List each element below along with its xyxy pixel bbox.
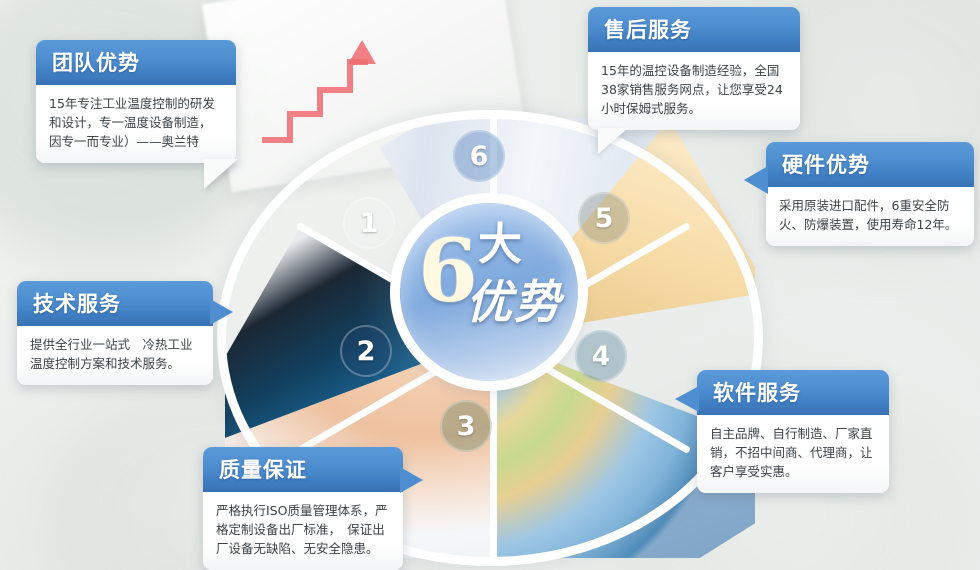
callout-after-sales[interactable]: 售后服务 15年的温控设备制造经验，全国38家销售服务网点，让您享受24小时保姆… [588,7,800,130]
callout-software-body: 自主品牌、自行制造、厂家直销，不招中间商、代理商，让客户享受实惠。 [697,415,889,493]
callout-technical-service[interactable]: 技术服务 提供全行业一站式 冷热工业温度控制方案和技术服务。 [17,281,213,385]
callout-software-title: 软件服务 [697,370,889,415]
callout-hardware-title: 硬件优势 [766,142,974,187]
badge-5[interactable]: 5 [578,192,630,244]
callout-team-advantage[interactable]: 团队优势 15年专注工业温度控制的研发和设计，专一温度设备制造，因专一而专业）—… [36,40,236,163]
callout-hardware-body: 采用原装进口配件，6重安全防火、防爆装置，使用寿命12年。 [766,187,974,246]
badge-3[interactable]: 3 [440,400,492,452]
callout-tail [210,299,233,325]
center-hub: 6 大 优势 [400,203,578,381]
badge-6[interactable]: 6 [453,130,505,182]
callout-quality-assurance[interactable]: 质量保证 严格执行ISO质量管理体系，严格定制设备出厂标准， 保证出厂设备无缺陷… [203,447,403,570]
callout-hardware-advantage[interactable]: 硬件优势 采用原装进口配件，6重安全防火、防爆装置，使用寿命12年。 [766,142,974,246]
callout-team-title: 团队优势 [36,40,236,85]
callout-team-body: 15年专注工业温度控制的研发和设计，专一温度设备制造，因专一而专业）——奥兰特 [36,85,236,163]
callout-tech-title: 技术服务 [17,281,213,326]
hub-word: 优势 [466,277,562,327]
badge-2[interactable]: 2 [340,325,392,377]
callout-tail [204,159,238,189]
callout-quality-body: 严格执行ISO质量管理体系，严格定制设备出厂标准， 保证出厂设备无缺陷、无安全隐… [203,492,403,570]
callout-quality-title: 质量保证 [203,447,403,492]
callout-software-service[interactable]: 软件服务 自主品牌、自行制造、厂家直销，不招中间商、代理商，让客户享受实惠。 [697,370,889,493]
callout-tail [744,166,768,194]
callout-tail [675,386,699,412]
callout-tail [598,128,628,154]
badge-4[interactable]: 4 [575,330,627,382]
callout-after-sales-title: 售后服务 [588,7,800,52]
infographic-canvas: 6 大 优势 1 2 3 4 5 6 团队优势 15年专注工业温度控制的研发和设… [0,0,980,570]
badge-1[interactable]: 1 [343,197,395,249]
callout-after-sales-body: 15年的温控设备制造经验，全国38家销售服务网点，让您享受24小时保姆式服务。 [588,52,800,130]
hub-big-char: 大 [478,223,522,267]
callout-tech-body: 提供全行业一站式 冷热工业温度控制方案和技术服务。 [17,326,213,385]
callout-tail [400,467,423,493]
